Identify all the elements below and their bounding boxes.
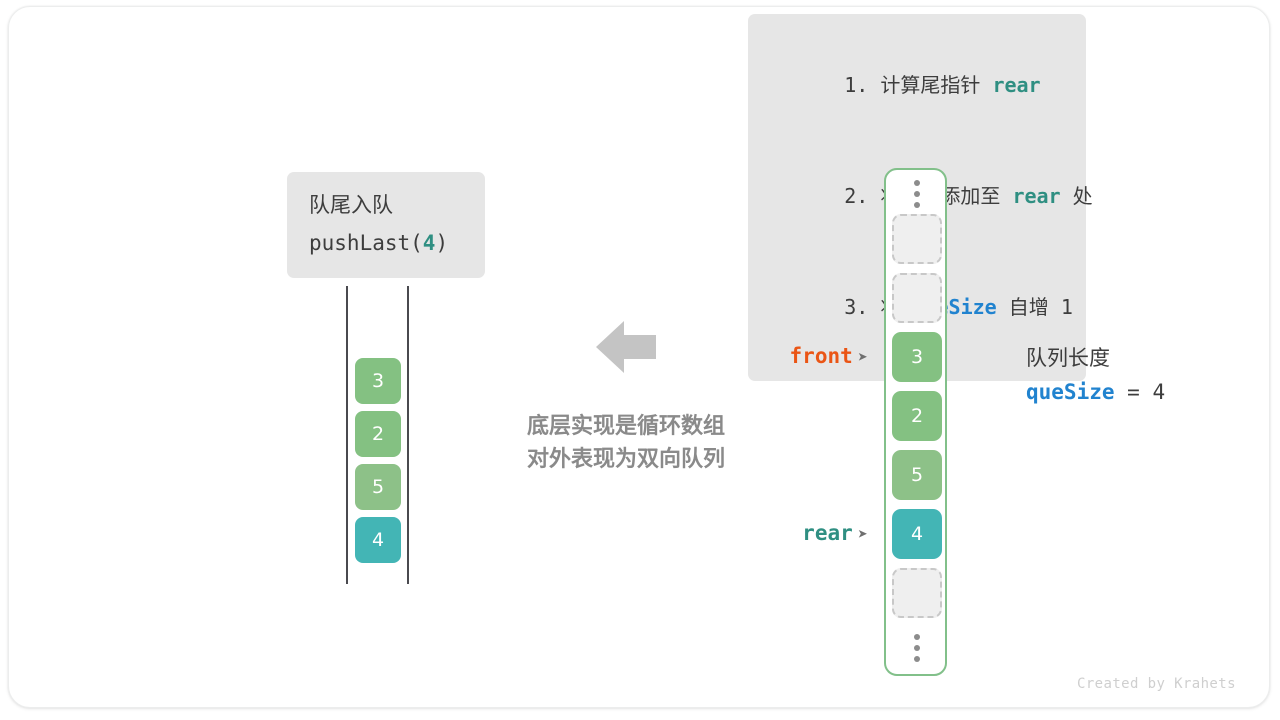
linear-cell-value: 4 <box>372 529 384 551</box>
ring-cell: 2 <box>892 391 942 441</box>
linear-cell-value: 2 <box>372 423 384 445</box>
operation-step-1: 1. 计算尾指针 rear <box>748 30 1086 141</box>
queue-length-expression: queSize = 4 <box>1026 374 1165 410</box>
center-caption: 底层实现是循环数组 对外表现为双向队列 <box>478 410 774 476</box>
queue-length-title: 队列长度 <box>1026 342 1165 374</box>
credit-text: Created by Krahets <box>1077 676 1236 692</box>
ring-cell: 4 <box>892 509 942 559</box>
operation-label-box: 队尾入队 pushLast(4) <box>287 172 485 278</box>
step-1-text-pre: 计算尾指针 <box>880 73 992 97</box>
ring-cell: 5 <box>892 450 942 500</box>
caption-line-1: 底层实现是循环数组 <box>478 410 774 443</box>
ring-cell-empty <box>892 214 942 264</box>
linear-cell-value: 5 <box>372 476 384 498</box>
call-prefix: pushLast( <box>309 231 423 255</box>
linear-cell: 5 <box>355 464 401 510</box>
step-1-keyword: rear <box>992 73 1040 97</box>
step-2-number: 2. <box>844 184 868 208</box>
call-argument: 4 <box>423 231 436 255</box>
circular-array-view: 3 2 5 4 <box>884 168 947 676</box>
caption-line-2: 对外表现为双向队列 <box>478 443 774 476</box>
quesize-value: 4 <box>1152 380 1165 404</box>
step-2-text-post: 处 <box>1061 184 1093 208</box>
step-3-number: 3. <box>844 295 868 319</box>
quesize-variable: queSize <box>1026 380 1115 404</box>
diagram-canvas: 1. 计算尾指针 rear 2. 将元素添加至 rear 处 3. 将 queS… <box>0 0 1280 720</box>
quesize-equals: = <box>1115 380 1153 404</box>
ring-cell-empty <box>892 568 942 618</box>
ring-cell-value: 3 <box>911 346 923 368</box>
rear-pointer-text: rear <box>802 521 853 545</box>
step-1-space <box>868 73 880 97</box>
operation-label-call: pushLast(4) <box>287 224 485 262</box>
ring-cell-value: 5 <box>911 464 923 486</box>
step-3-text-post: 自增 1 <box>997 295 1073 319</box>
ring-cell-value: 2 <box>911 405 923 427</box>
linear-cell: 4 <box>355 517 401 563</box>
array-left-rule <box>346 286 348 584</box>
vertical-ellipsis-bottom-icon <box>911 634 923 664</box>
step-2-keyword: rear <box>1012 184 1060 208</box>
step-3-space <box>868 295 880 319</box>
linear-cell-value: 3 <box>372 370 384 392</box>
operation-label-title: 队尾入队 <box>287 186 485 224</box>
rear-pointer-label: rear➤ <box>700 521 868 545</box>
front-pointer-arrow-icon: ➤ <box>853 348 868 368</box>
ring-cell-empty <box>892 273 942 323</box>
linear-array-view: 3 2 5 4 <box>346 286 410 584</box>
queue-length-readout: 队列长度 queSize = 4 <box>1026 342 1165 410</box>
linear-cell: 2 <box>355 411 401 457</box>
step-2-space <box>868 184 880 208</box>
front-pointer-text: front <box>790 344 853 368</box>
left-arrow-icon <box>596 320 656 374</box>
step-1-number: 1. <box>844 73 868 97</box>
array-right-rule <box>407 286 409 584</box>
ring-cell: 3 <box>892 332 942 382</box>
front-pointer-label: front➤ <box>700 344 868 368</box>
rear-pointer-arrow-icon: ➤ <box>853 525 868 545</box>
ring-cell-value: 4 <box>911 523 923 545</box>
vertical-ellipsis-top-icon <box>911 180 923 210</box>
linear-cell: 3 <box>355 358 401 404</box>
call-suffix: ) <box>435 231 448 255</box>
